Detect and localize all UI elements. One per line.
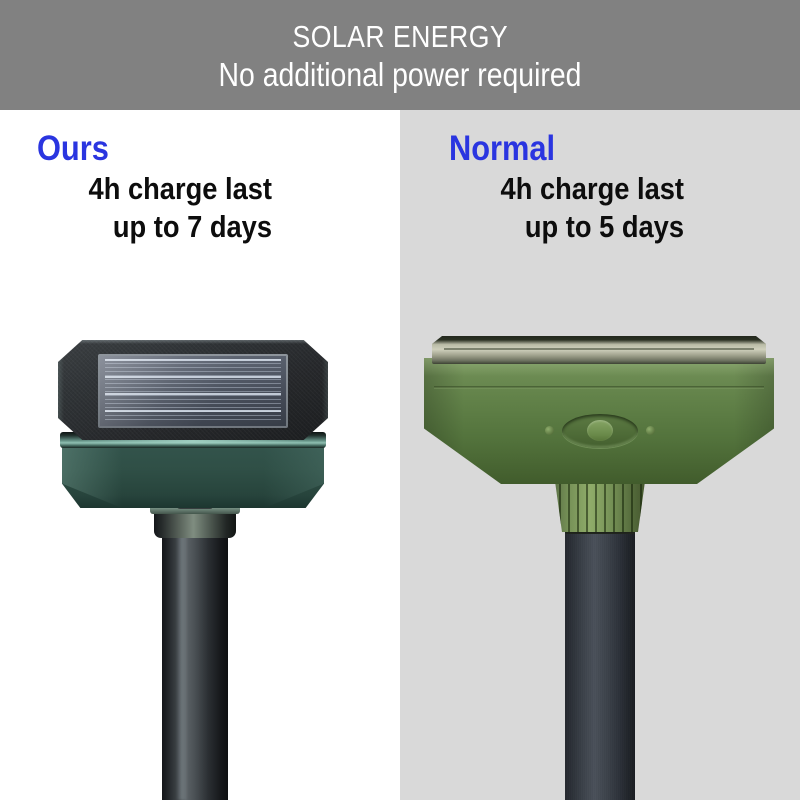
solar-panel-normal xyxy=(432,336,766,364)
product-stem-normal xyxy=(565,530,635,800)
solar-panel-glare-ours xyxy=(100,356,286,426)
panel-normal: Normal 4h charge last up to 5 days xyxy=(400,110,800,800)
screw-right-normal xyxy=(646,426,655,435)
product-image-ours xyxy=(58,340,328,800)
claim-line-2-ours: up to 7 days xyxy=(33,208,272,246)
head-groove-normal xyxy=(434,386,764,389)
solar-panel-ours xyxy=(100,356,286,426)
banner-title: SOLAR ENERGY xyxy=(292,19,508,55)
claim-line-1-ours: 4h charge last xyxy=(33,170,272,208)
header-banner: SOLAR ENERGY No additional power require… xyxy=(0,0,800,110)
stem-texture-normal xyxy=(565,530,635,800)
solar-panel-seam-normal xyxy=(444,348,754,350)
product-stem-ours xyxy=(162,528,228,800)
panel-ours: Ours 4h charge last up to 7 days xyxy=(0,110,400,800)
text-block-normal: Normal 4h charge last up to 5 days xyxy=(412,128,684,246)
product-image-normal xyxy=(424,328,774,800)
claim-line-2-normal: up to 5 days xyxy=(445,208,684,246)
stem-highlight-ours xyxy=(176,528,188,800)
column-label-ours: Ours xyxy=(0,128,239,170)
claim-line-1-normal: 4h charge last xyxy=(445,170,684,208)
solar-panel-frame-ours xyxy=(98,354,288,428)
indicator-button-normal xyxy=(587,420,613,441)
text-block-ours: Ours 4h charge last up to 7 days xyxy=(0,128,272,246)
comparison-panels: Ours 4h charge last up to 7 days xyxy=(0,110,800,800)
product-comparison-image: SOLAR ENERGY No additional power require… xyxy=(0,0,800,800)
screw-left-normal xyxy=(545,426,554,435)
column-label-normal: Normal xyxy=(412,128,651,170)
banner-subtitle: No additional power required xyxy=(219,55,582,94)
